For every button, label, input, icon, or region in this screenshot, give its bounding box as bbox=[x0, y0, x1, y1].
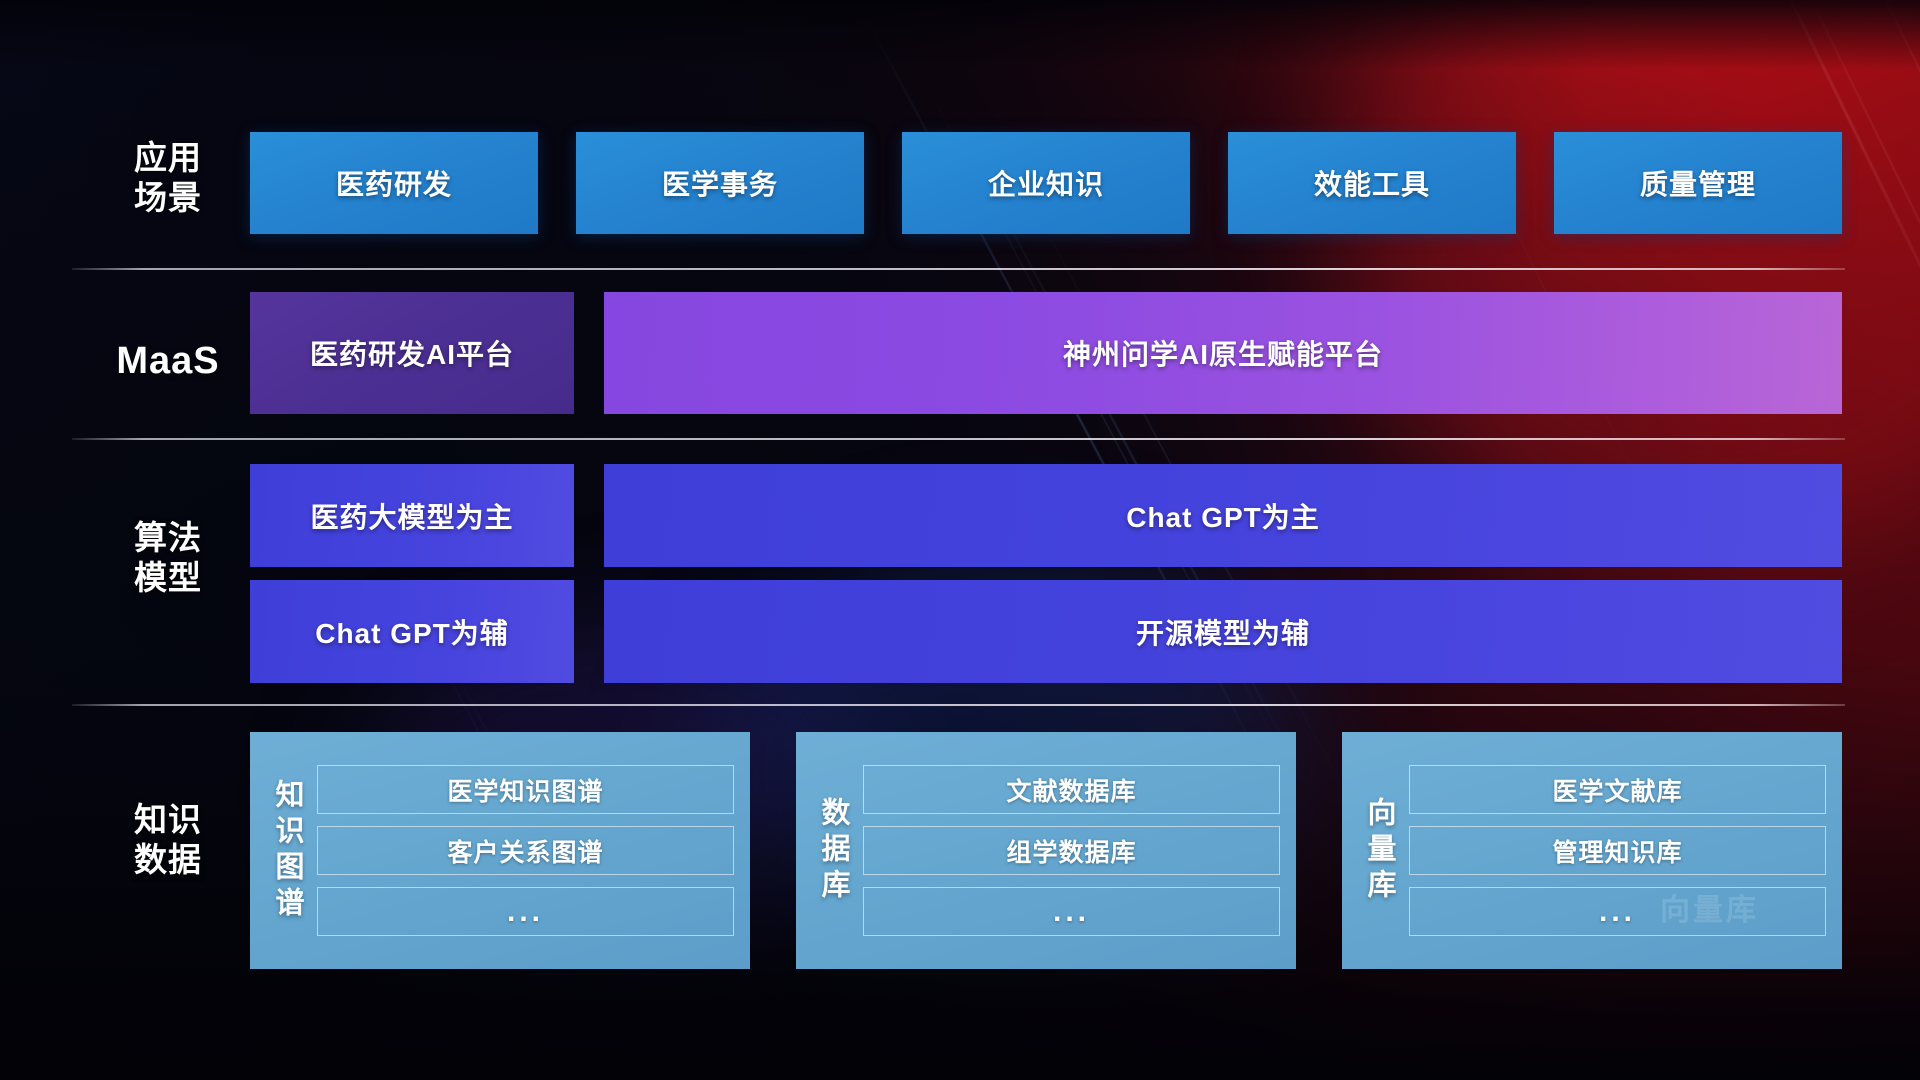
row-label-line2: 数据 bbox=[88, 840, 248, 880]
knowledge-item[interactable]: 组学数据库 bbox=[863, 826, 1280, 875]
knowledge-item[interactable]: 医学文献库 bbox=[1409, 765, 1826, 814]
algo-box-chatgpt-primary[interactable]: Chat GPT为主 bbox=[604, 464, 1842, 567]
app-box-label: 企业知识 bbox=[988, 163, 1104, 203]
knowledge-panel-items: 文献数据库 组学数据库 ... bbox=[863, 765, 1280, 936]
row-label-application-scenarios: 应用 场景 bbox=[88, 138, 248, 219]
knowledge-item[interactable]: 文献数据库 bbox=[863, 765, 1280, 814]
algo-box-medical-model-primary[interactable]: 医药大模型为主 bbox=[250, 464, 574, 567]
app-box-label: 医学事务 bbox=[662, 163, 778, 203]
row-label-line1: 应用 bbox=[88, 138, 248, 178]
knowledge-item-more[interactable]: ... bbox=[1409, 887, 1826, 936]
knowledge-panel-vector-database[interactable]: 向量库 医学文献库 管理知识库 ... bbox=[1342, 732, 1842, 969]
row-label-line2: 模型 bbox=[88, 558, 248, 598]
app-box-1[interactable]: 医药研发 bbox=[250, 132, 538, 234]
knowledge-panel-knowledge-graph[interactable]: 知识图谱 医学知识图谱 客户关系图谱 ... bbox=[250, 732, 750, 969]
maas-box-label: 神州问学AI原生赋能平台 bbox=[1063, 333, 1383, 373]
algo-box-opensource-secondary[interactable]: 开源模型为辅 bbox=[604, 580, 1842, 683]
row-label-algorithm-model: 算法 模型 bbox=[88, 518, 248, 599]
knowledge-panel-title: 数据库 bbox=[816, 793, 849, 909]
knowledge-panel-title: 知识图谱 bbox=[270, 775, 303, 927]
app-box-label: 医药研发 bbox=[336, 163, 452, 203]
knowledge-item[interactable]: 管理知识库 bbox=[1409, 826, 1826, 875]
maas-box-medical-ai-platform[interactable]: 医药研发AI平台 bbox=[250, 292, 574, 414]
knowledge-item-more[interactable]: ... bbox=[317, 887, 734, 936]
maas-box-label: 医药研发AI平台 bbox=[310, 333, 514, 373]
divider-1 bbox=[72, 268, 1845, 270]
divider-3 bbox=[72, 704, 1845, 706]
app-box-2[interactable]: 医学事务 bbox=[576, 132, 864, 234]
row-label-line2: 场景 bbox=[88, 178, 248, 218]
app-box-4[interactable]: 效能工具 bbox=[1228, 132, 1516, 234]
knowledge-item[interactable]: 客户关系图谱 bbox=[317, 826, 734, 875]
knowledge-panel-items: 医学知识图谱 客户关系图谱 ... bbox=[317, 765, 734, 936]
row-label-maas: MaaS bbox=[88, 338, 248, 384]
divider-2 bbox=[72, 438, 1845, 440]
app-box-label: 效能工具 bbox=[1314, 163, 1430, 203]
knowledge-item-more[interactable]: ... bbox=[863, 887, 1280, 936]
algo-box-label: 医药大模型为主 bbox=[310, 496, 513, 536]
maas-box-shenzhou-platform[interactable]: 神州问学AI原生赋能平台 bbox=[604, 292, 1842, 414]
row-label-knowledge-data: 知识 数据 bbox=[88, 800, 248, 881]
knowledge-panel-title: 向量库 bbox=[1362, 793, 1395, 909]
app-box-3[interactable]: 企业知识 bbox=[902, 132, 1190, 234]
app-box-5[interactable]: 质量管理 bbox=[1554, 132, 1842, 234]
row-label-line1: 知识 bbox=[88, 800, 248, 840]
algo-box-label: 开源模型为辅 bbox=[1136, 612, 1310, 652]
knowledge-panel-database[interactable]: 数据库 文献数据库 组学数据库 ... bbox=[796, 732, 1296, 969]
knowledge-panel-items: 医学文献库 管理知识库 ... bbox=[1409, 765, 1826, 936]
row-label-line1: MaaS bbox=[88, 338, 248, 384]
algo-box-label: Chat GPT为主 bbox=[1126, 496, 1320, 536]
algo-box-chatgpt-secondary[interactable]: Chat GPT为辅 bbox=[250, 580, 574, 683]
algo-box-label: Chat GPT为辅 bbox=[315, 612, 509, 652]
knowledge-item[interactable]: 医学知识图谱 bbox=[317, 765, 734, 814]
app-box-label: 质量管理 bbox=[1640, 163, 1756, 203]
row-label-line1: 算法 bbox=[88, 518, 248, 558]
